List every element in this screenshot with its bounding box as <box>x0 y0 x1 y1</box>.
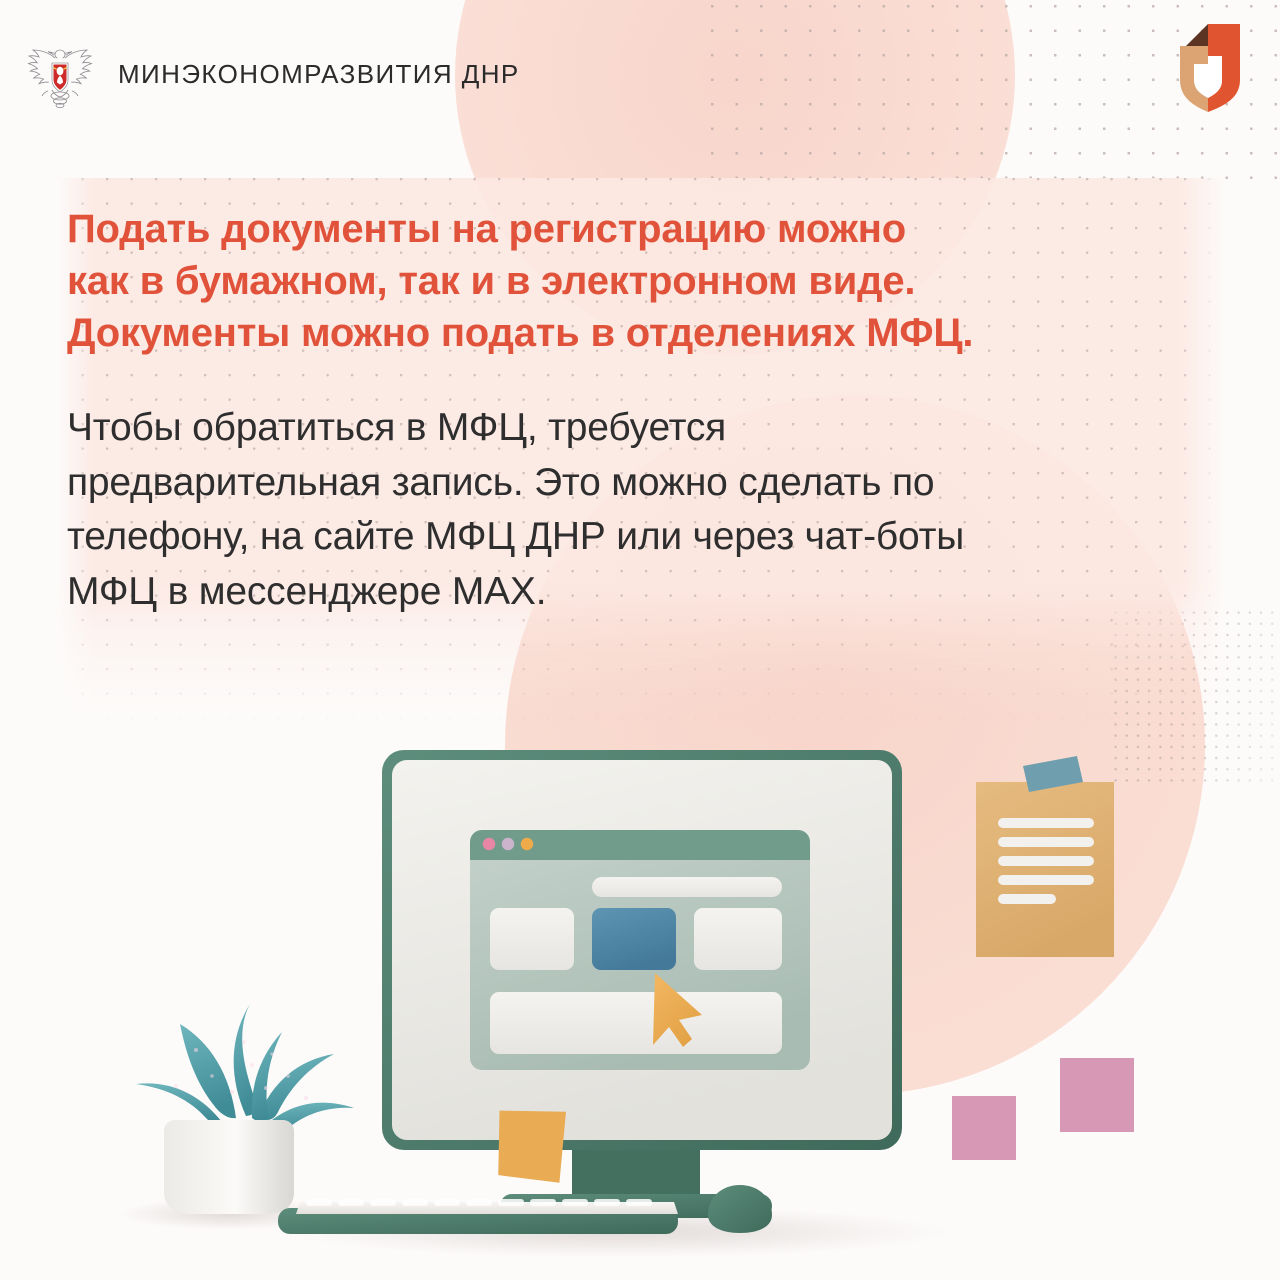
sticky-note-icon <box>492 1104 574 1189</box>
desk-illustration <box>0 720 1280 1280</box>
brand-name: МИНЭКОНОМРАЗВИТИЯ ДНР <box>118 59 520 90</box>
plant-pot-icon <box>164 1120 294 1214</box>
computer-mouse-icon[interactable] <box>708 1185 772 1233</box>
wide-content-card-icon[interactable] <box>490 992 782 1054</box>
headline: Подать документы на регистрацию можно ка… <box>67 203 1213 359</box>
text-card-content: Подать документы на регистрацию можно ка… <box>57 178 1225 619</box>
highlighted-content-card-icon[interactable] <box>592 908 676 970</box>
traffic-dot-pink[interactable] <box>483 838 495 850</box>
desktop-monitor-icon <box>382 750 902 1218</box>
brand: МИНЭКОНОМРАЗВИТИЯ ДНР <box>22 34 520 114</box>
search-bar-placeholder-icon[interactable] <box>592 877 782 897</box>
traffic-dot-lavender[interactable] <box>502 838 514 850</box>
decorative-square-small-icon <box>952 1096 1016 1160</box>
decorative-squares <box>952 1058 1134 1160</box>
potted-plant-icon <box>136 1004 354 1214</box>
traffic-dot-orange[interactable] <box>521 838 533 850</box>
keyboard-icon[interactable] <box>278 1199 678 1234</box>
content-card-left-icon[interactable] <box>490 908 574 970</box>
body-paragraph: Чтобы обратиться в МФЦ, требуется предва… <box>67 401 1213 619</box>
content-card-right-icon[interactable] <box>694 908 782 970</box>
shield-logo-icon <box>1174 22 1242 114</box>
document-paper-icon <box>976 756 1114 957</box>
decorative-square-large-icon <box>1060 1058 1134 1132</box>
monitor-neck <box>572 1150 700 1198</box>
page-header: МИНЭКОНОМРАЗВИТИЯ ДНР <box>0 0 1280 150</box>
browser-window-icon[interactable] <box>470 830 810 1070</box>
dnr-double-headed-eagle-emblem-icon <box>22 34 98 114</box>
